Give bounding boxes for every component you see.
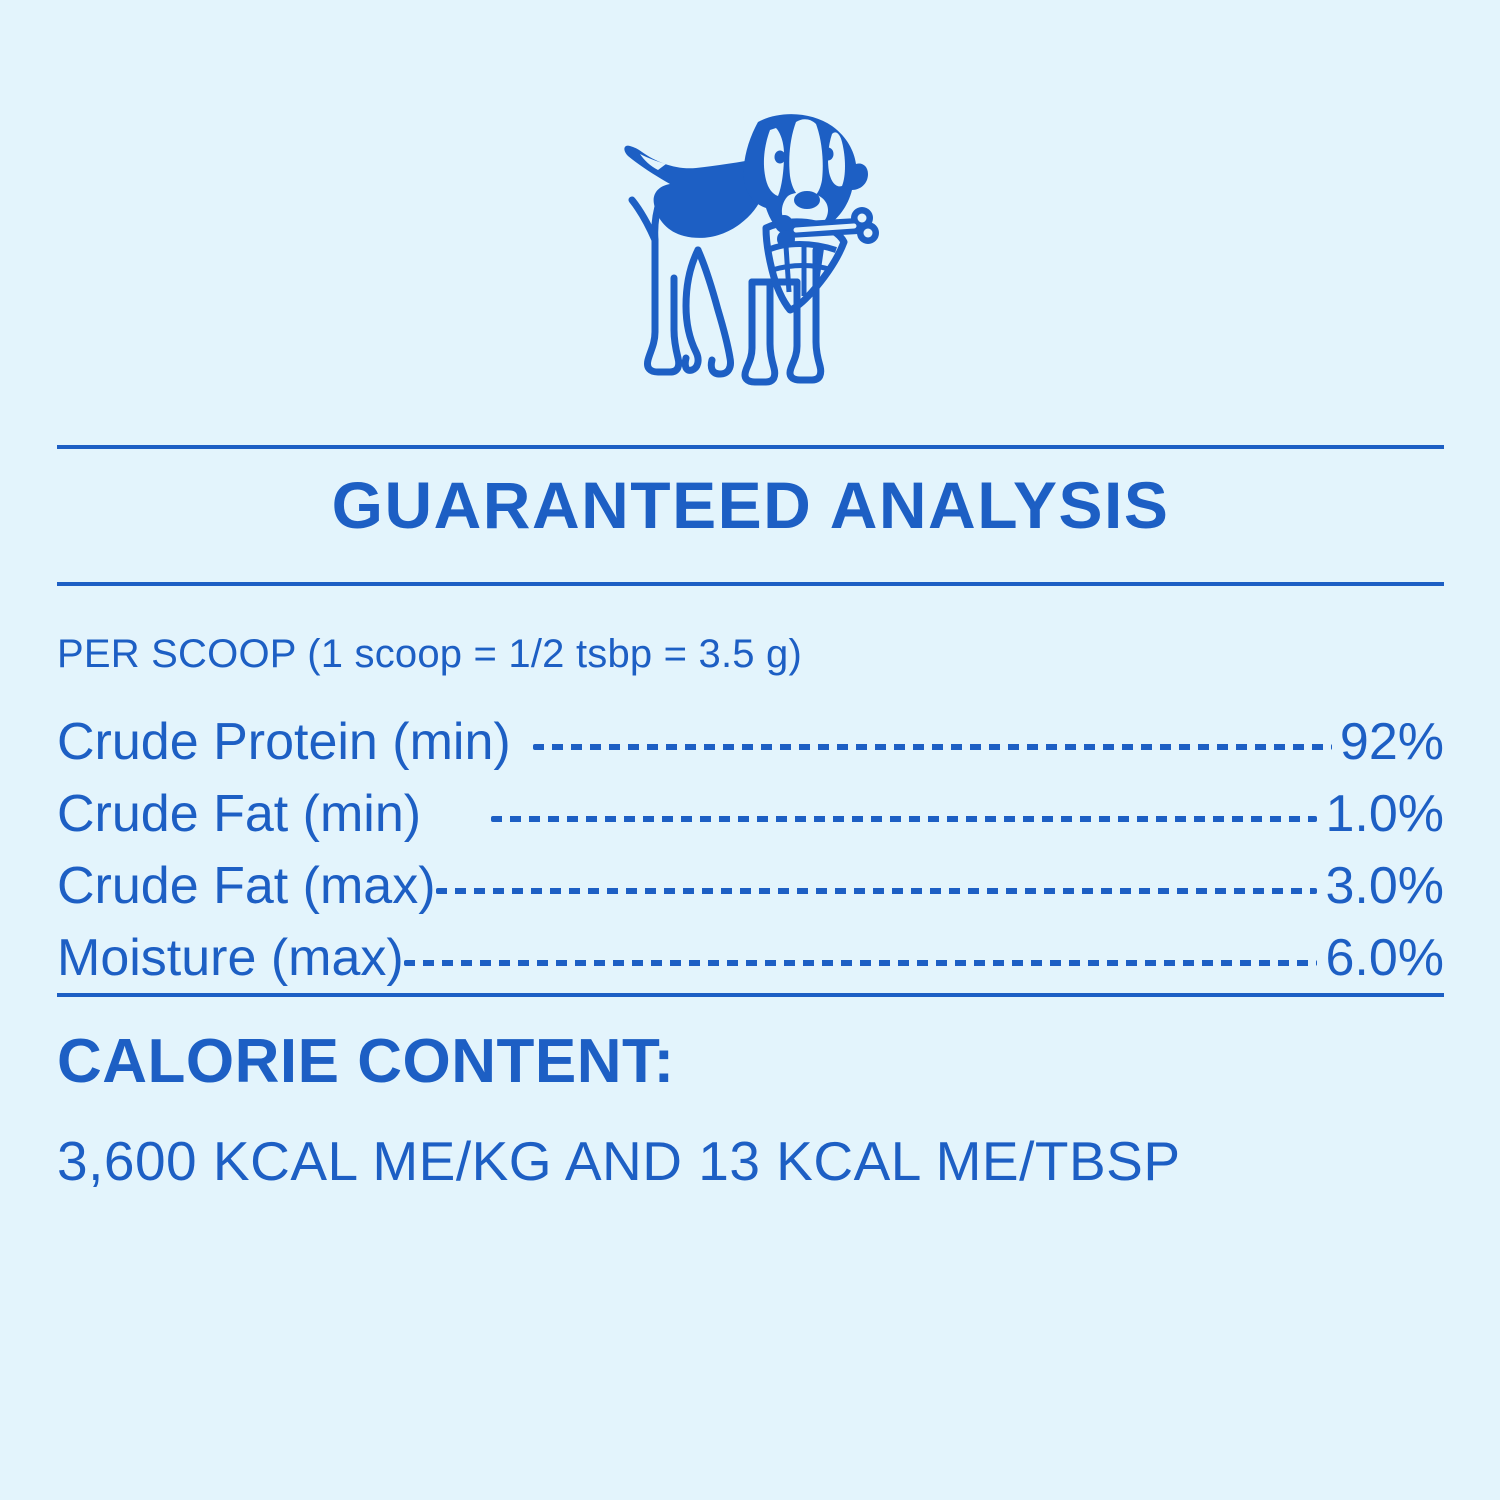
analysis-value: 1.0% bbox=[1317, 778, 1444, 850]
page-title: GUARANTEED ANALYSIS bbox=[57, 472, 1444, 538]
analysis-table: Crude Protein (min) 92% Crude Fat (min) … bbox=[57, 706, 1444, 994]
brand-logo bbox=[0, 100, 1500, 400]
serving-size-note: PER SCOOP (1 scoop = 1/2 tsbp = 3.5 g) bbox=[57, 634, 802, 674]
analysis-label: Moisture (max) bbox=[57, 922, 404, 994]
analysis-label: Crude Protein (min) bbox=[57, 706, 511, 778]
analysis-label: Crude Fat (max) bbox=[57, 850, 436, 922]
dot-leader bbox=[404, 923, 1318, 975]
table-row: Crude Fat (max) 3.0% bbox=[57, 850, 1444, 922]
divider-middle bbox=[57, 582, 1444, 586]
calorie-content-heading: CALORIE CONTENT: bbox=[57, 1031, 675, 1093]
divider-top bbox=[57, 445, 1444, 449]
analysis-value: 3.0% bbox=[1317, 850, 1444, 922]
guaranteed-analysis-panel: GUARANTEED ANALYSIS PER SCOOP (1 scoop =… bbox=[0, 0, 1500, 1500]
dot-leader bbox=[491, 779, 1317, 831]
dot-leader bbox=[436, 851, 1318, 903]
analysis-value: 92% bbox=[1332, 706, 1444, 778]
dog-with-bone-icon bbox=[600, 100, 900, 400]
table-row: Crude Protein (min) 92% bbox=[57, 706, 1444, 778]
table-row: Crude Fat (min) 1.0% bbox=[57, 778, 1444, 850]
dot-leader bbox=[533, 707, 1332, 759]
analysis-value: 6.0% bbox=[1317, 922, 1444, 994]
table-row: Moisture (max) 6.0% bbox=[57, 922, 1444, 994]
analysis-label: Crude Fat (min) bbox=[57, 778, 421, 850]
calorie-content-value: 3,600 KCAL ME/KG AND 13 KCAL ME/TBSP bbox=[57, 1134, 1181, 1189]
